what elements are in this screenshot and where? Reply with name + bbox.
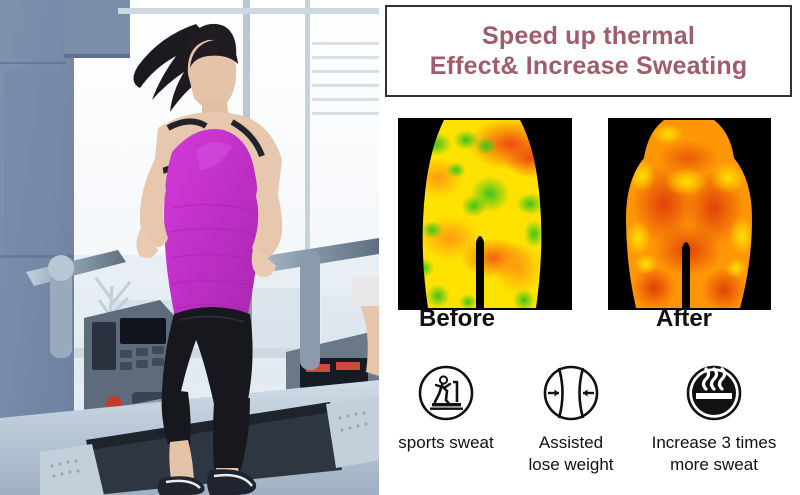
treadmill-photo xyxy=(0,0,379,495)
feature-item-lose-weight: Assisted lose weight xyxy=(512,360,630,476)
feature-item-more-sweat: Increase 3 times more sweat xyxy=(631,360,797,476)
gym-scene-illustration xyxy=(0,0,379,495)
feature-caption: Increase 3 times more sweat xyxy=(631,432,797,476)
headline-line-1: Speed up thermal xyxy=(482,21,695,51)
thermal-comparison xyxy=(379,118,800,318)
feature-caption: sports sweat xyxy=(381,432,511,454)
before-after-labels: Before After xyxy=(379,305,800,343)
heat-waves-icon xyxy=(631,360,797,426)
headline-line-2: Effect& Increase Sweating xyxy=(430,51,748,81)
label-after: After xyxy=(656,305,712,333)
waist-slimming-arrows-icon xyxy=(512,360,630,426)
thermal-after-graphic xyxy=(608,118,771,310)
headline-box: Speed up thermal Effect& Increase Sweati… xyxy=(385,5,792,97)
thermal-image-after xyxy=(608,118,771,310)
feature-item-sports-sweat: sports sweat xyxy=(381,360,511,454)
info-panel: Speed up thermal Effect& Increase Sweati… xyxy=(379,0,800,495)
thermal-before-graphic xyxy=(398,118,572,310)
treadmill-runner-icon xyxy=(381,360,511,426)
feature-caption: Assisted lose weight xyxy=(512,432,630,476)
label-before: Before xyxy=(419,305,495,333)
thermal-image-before xyxy=(398,118,572,310)
feature-list: sports sweat Assisted lose weight xyxy=(379,360,800,495)
promotional-banner: Speed up thermal Effect& Increase Sweati… xyxy=(0,0,800,495)
